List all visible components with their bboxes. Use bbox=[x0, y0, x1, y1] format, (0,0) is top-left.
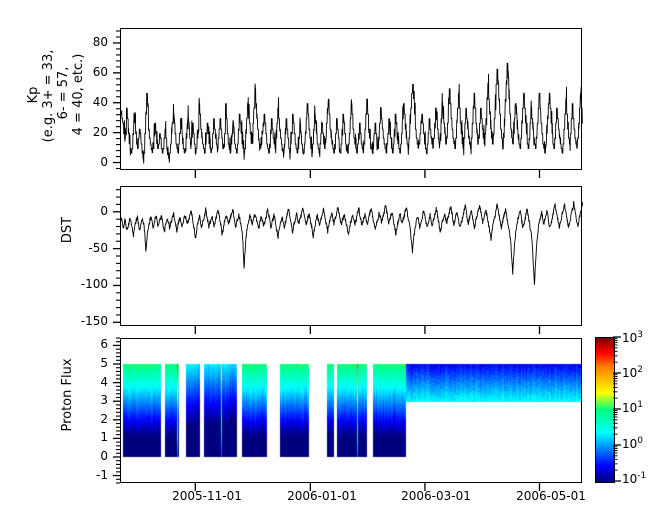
x-tick-label-0: 2005-11-01 bbox=[152, 489, 262, 503]
axis-tick-label: 5 bbox=[72, 356, 108, 370]
axis-tick-label: 80 bbox=[72, 35, 108, 49]
colorbar-mantissa-3: 10 bbox=[622, 331, 637, 345]
colorbar-mantissa-0: 10 bbox=[622, 437, 637, 451]
panel-bottom-tick-stubs bbox=[115, 326, 595, 338]
dst-axis-label-text: DST bbox=[60, 180, 75, 280]
colorbar-exponent-2: 2 bbox=[637, 365, 643, 375]
panel-bottom-tick-stubs bbox=[115, 170, 595, 182]
x-tick-label-2: 2006-03-01 bbox=[381, 489, 491, 503]
axis-tick-label: 0 bbox=[72, 155, 108, 169]
colorbar-mantissa-1: 10 bbox=[622, 401, 637, 415]
axis-tick-label: 0 bbox=[72, 449, 108, 463]
axis-tick-label: 4 bbox=[72, 375, 108, 389]
axis-tick-label: 6 bbox=[72, 337, 108, 351]
x-tick-label-3: 2006-05-01 bbox=[496, 489, 606, 503]
colorbar-exponent-neg1: -1 bbox=[637, 471, 646, 481]
axis-tick-label: 0 bbox=[72, 204, 108, 218]
axis-tick-label: -100 bbox=[72, 277, 108, 291]
colorbar-tick-label-neg1: 10-1 bbox=[622, 471, 646, 486]
axis-tick-label: -150 bbox=[72, 314, 108, 328]
colorbar-exponent-3: 3 bbox=[637, 330, 643, 340]
colorbar-exponent-1: 1 bbox=[637, 400, 643, 410]
colorbar-tick-label-0: 100 bbox=[622, 436, 643, 451]
colorbar-gradient bbox=[595, 337, 615, 483]
figure-canvas: Kp (e.g. 3+ = 33, 6- = 57, 4 = 40, etc.)… bbox=[0, 0, 665, 523]
x-tick-label-1: 2006-01-01 bbox=[267, 489, 377, 503]
colorbar-tick-label-1: 101 bbox=[622, 400, 643, 415]
axis-tick-label: 1 bbox=[72, 430, 108, 444]
kp-axis-label-line-2: (e.g. 3+ = 33, bbox=[41, 16, 56, 176]
axis-tick-label: 3 bbox=[72, 393, 108, 407]
kp-axis-label-line-3: 6- = 57, bbox=[56, 28, 71, 158]
axis-tick-label: 40 bbox=[72, 95, 108, 109]
kp-axis-label-line-1: Kp bbox=[26, 20, 41, 170]
colorbar-tick-label-3: 103 bbox=[622, 330, 643, 345]
colorbar-tick-label-2: 102 bbox=[622, 365, 643, 380]
colorbar-mantissa-2: 10 bbox=[622, 366, 637, 380]
colorbar-exponent-0: 0 bbox=[637, 436, 643, 446]
axis-tick-label: 60 bbox=[72, 65, 108, 79]
axis-tick-label: -1 bbox=[72, 468, 108, 482]
colorbar-mantissa-neg1: 10 bbox=[622, 472, 637, 486]
axis-tick-label: -50 bbox=[72, 241, 108, 255]
axis-tick-label: 20 bbox=[72, 125, 108, 139]
axis-tick-label: 2 bbox=[72, 412, 108, 426]
